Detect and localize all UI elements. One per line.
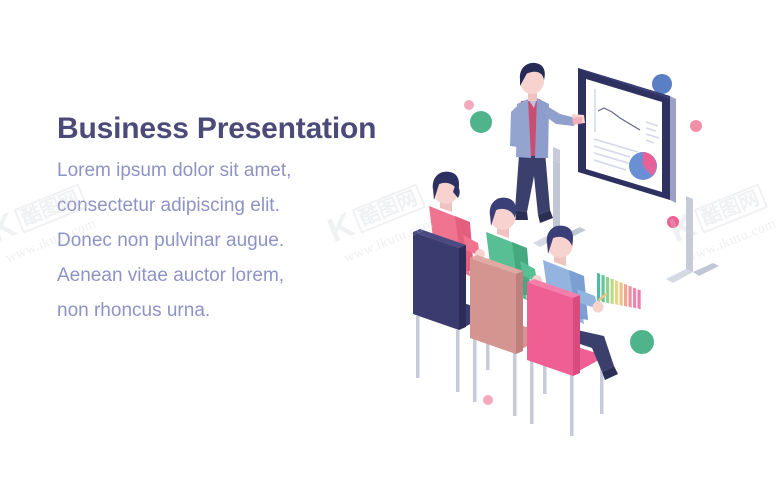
body-line-2: consectetur adipiscing elit. (57, 196, 397, 215)
page-title: Business Presentation (57, 112, 397, 145)
whiteboard-pie-chart (629, 152, 657, 180)
audience-member-2 (470, 198, 549, 416)
decorative-dots (464, 74, 702, 405)
body-line-3: Donec non pulvinar augue. (57, 231, 397, 250)
watermark-url: www.ikutu.com (684, 216, 777, 267)
watermark-k-icon: K (665, 208, 701, 249)
watermark-logo: K 酷图网 (665, 179, 770, 248)
whiteboard-stand (533, 147, 719, 283)
whiteboard-text-lines (594, 122, 659, 170)
illustration-canvas: Business Presentation Lorem ipsum dolor … (0, 0, 777, 486)
audience-member-1 (413, 172, 492, 392)
watermark-brand: 酷图网 (693, 184, 768, 234)
watermark-k-icon: K (0, 208, 21, 249)
presenter-figure (510, 63, 585, 223)
body-line-1: Lorem ipsum dolor sit amet, (57, 161, 397, 180)
audience-member-3 (527, 226, 618, 436)
watermark-right: K 酷图网 www.ikutu.com (665, 179, 777, 268)
whiteboard (576, 66, 676, 309)
whiteboard-bar-chart (595, 89, 641, 309)
text-block: Business Presentation Lorem ipsum dolor … (57, 112, 397, 336)
body-line-5: non rhoncus urna. (57, 301, 397, 320)
body-line-4: Aenean vitae auctor lorem, (57, 266, 397, 285)
